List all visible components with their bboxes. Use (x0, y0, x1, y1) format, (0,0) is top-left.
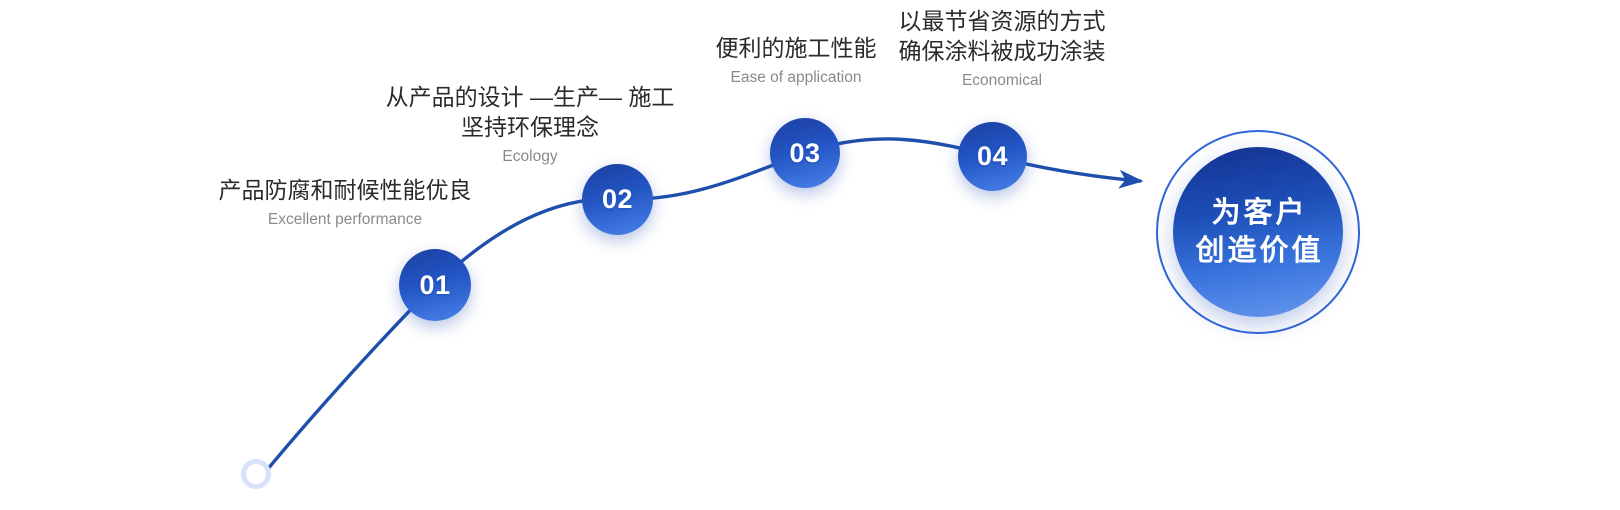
step-subtitle-04: Economical (882, 70, 1122, 92)
step-label-02: 从产品的设计 —生产— 施工 坚持环保理念 Ecology (380, 82, 680, 168)
goal-circle[interactable]: 为客户 创造价值 (1156, 130, 1360, 334)
step-title-02-line1: 从产品的设计 —生产— 施工 (380, 82, 680, 112)
step-title-04-line2: 确保涂料被成功涂装 (882, 36, 1122, 66)
step-number-03: 03 (789, 140, 820, 167)
step-subtitle-03: Ease of application (676, 67, 916, 89)
goal-text-line2: 创造价值 (1192, 232, 1323, 270)
step-title-03-line1: 便利的施工性能 (676, 33, 916, 63)
step-title-04-line1: 以最节省资源的方式 (882, 6, 1122, 36)
step-title-02-line2: 坚持环保理念 (380, 112, 680, 142)
step-node-02[interactable]: 02 (582, 164, 653, 235)
infographic-canvas: 产品防腐和耐候性能优良 Excellent performance 01 从产品… (0, 0, 1620, 510)
step-label-03: 便利的施工性能 Ease of application (676, 33, 916, 89)
goal-inner-circle: 为客户 创造价值 (1173, 147, 1343, 317)
goal-text-line1: 为客户 (1208, 194, 1307, 232)
step-subtitle-02: Ecology (380, 146, 680, 168)
step-label-04: 以最节省资源的方式 确保涂料被成功涂装 Economical (882, 6, 1122, 92)
step-subtitle-01: Excellent performance (195, 209, 495, 231)
step-title-01-line1: 产品防腐和耐候性能优良 (195, 175, 495, 205)
step-label-01: 产品防腐和耐候性能优良 Excellent performance (195, 175, 495, 231)
step-node-03[interactable]: 03 (770, 118, 840, 188)
step-number-01: 01 (419, 272, 450, 299)
step-number-04: 04 (977, 143, 1008, 170)
step-node-04[interactable]: 04 (958, 122, 1027, 191)
start-ring-icon (241, 459, 271, 489)
step-node-01[interactable]: 01 (399, 249, 471, 321)
step-number-02: 02 (602, 186, 633, 213)
